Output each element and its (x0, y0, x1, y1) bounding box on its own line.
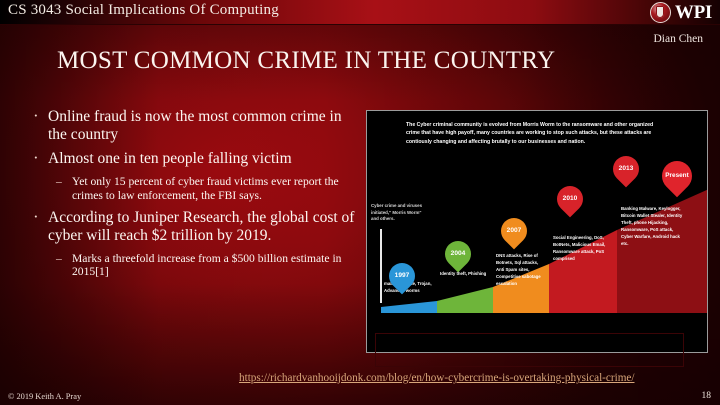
page-title: MOST COMMON CRIME IN THE COUNTRY (57, 47, 555, 75)
pin-label: 2007 (501, 218, 527, 244)
band-shape-2004 (437, 287, 493, 313)
band-label-2007: DNS attacks, Rise of Botnets, Sql attack… (496, 253, 546, 288)
source-link[interactable]: https://richardvanhooijdonk.com/blog/en/… (239, 372, 635, 384)
copyright-text: © 2019 Keith A. Pray (8, 392, 81, 401)
pin-label: Present (662, 161, 692, 191)
presentation-slide: CS 3043 Social Implications Of Computing… (0, 0, 720, 405)
pin-label: 2004 (445, 241, 471, 267)
timeline-pin-present: Present (656, 155, 698, 197)
bullet-item: Online fraud is now the most common crim… (26, 108, 356, 143)
placeholder-box (375, 333, 684, 367)
timeline-pin-2010: 2010 (552, 181, 589, 218)
band-label-present: Banking Malware, Keylogger, Bitcoin Wall… (621, 206, 683, 248)
band-label-2010: Social Engineering, DoS, BotNets, Malici… (553, 235, 609, 263)
timeline-pin-2007: 2007 (496, 213, 533, 250)
band-shape-1997 (381, 301, 437, 313)
timeline-pin-1997: 1997 (384, 258, 421, 295)
presenter-name: Dian Chen (653, 33, 703, 45)
bullet-item: Almost one in ten people falling victim (26, 150, 356, 168)
band-label-2004: Identity theft, Phishing (440, 271, 488, 278)
timeline-pin-2013: 2013 (608, 151, 645, 188)
infographic-image[interactable]: The Cyber criminal community is evolved … (366, 110, 708, 353)
sub-bullet-item: Yet only 15 percent of cyber fraud victi… (26, 175, 356, 202)
course-title: CS 3043 Social Implications Of Computing (8, 2, 279, 19)
bullet-list: Online fraud is now the most common crim… (26, 108, 356, 286)
page-number: 18 (702, 391, 712, 401)
wpi-seal-icon (650, 2, 671, 23)
sub-bullet-item: Marks a threefold increase from a $500 b… (26, 252, 356, 279)
bullet-item: According to Juniper Research, the globa… (26, 209, 356, 244)
wpi-logo: WPI (650, 2, 712, 23)
pin-label: 2010 (557, 186, 583, 212)
pin-label: 2013 (613, 156, 639, 182)
wpi-wordmark: WPI (675, 3, 712, 22)
pin-label: 1997 (389, 263, 415, 289)
timeline-pin-2004: 2004 (440, 236, 477, 273)
